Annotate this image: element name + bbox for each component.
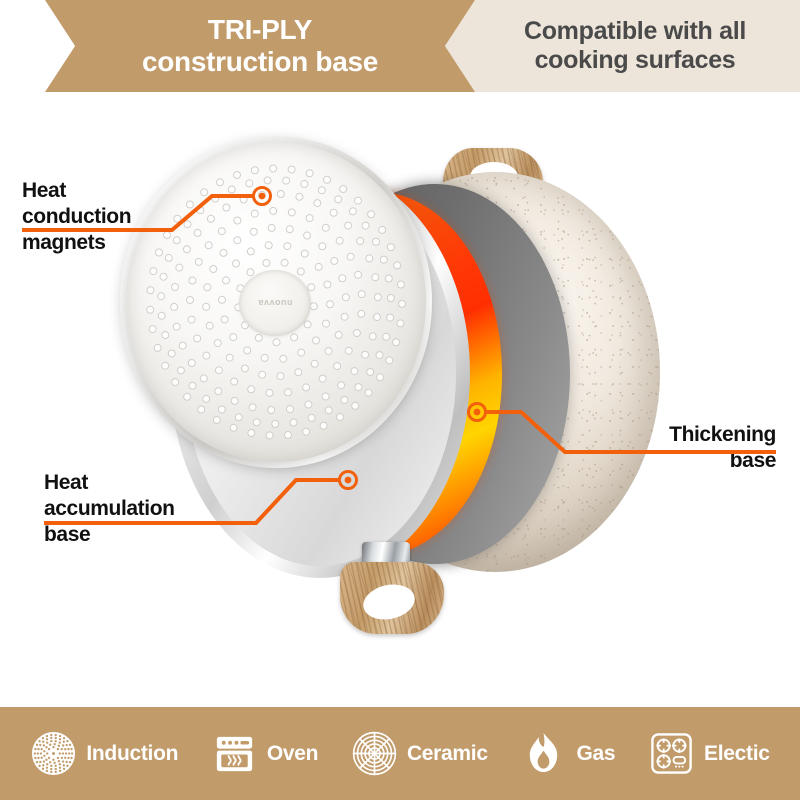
oven-icon <box>211 730 258 777</box>
ceramic-icon <box>351 730 398 777</box>
compatibility-bar: Induction Oven <box>0 707 800 800</box>
brand-mark: nuovva <box>258 298 293 308</box>
induction-icon <box>30 730 77 777</box>
compat-item-oven[interactable]: Oven <box>211 730 318 777</box>
gas-flame-icon <box>520 730 567 777</box>
primary-banner-text: TRI-PLY construction base <box>45 0 475 92</box>
primary-banner-line2: construction base <box>142 46 378 77</box>
compat-item-electric[interactable]: Electic <box>648 730 770 777</box>
callout-thickening-base-text: Thickening base <box>560 422 776 474</box>
callout-1-line1: Heat <box>22 179 66 202</box>
electric-cooktop-icon <box>648 730 695 777</box>
callout-2-line3: base <box>44 523 90 546</box>
compat-item-ceramic[interactable]: Ceramic <box>351 730 488 777</box>
infographic-canvas: TRI-PLY construction base Compatible wit… <box>0 0 800 800</box>
compat-item-induction[interactable]: Induction <box>30 730 178 777</box>
callout-1-line2: conduction <box>22 205 131 228</box>
header-banner-group: TRI-PLY construction base Compatible wit… <box>0 0 800 92</box>
callout-1-line3: magnets <box>22 231 106 254</box>
callout-2-line2: accumulation <box>44 497 175 520</box>
callout-2-line1: Heat <box>44 471 88 494</box>
compat-label-ceramic: Ceramic <box>407 742 488 766</box>
base-disc-center-medallion: nuovva <box>239 270 311 336</box>
callout-heat-accumulation-base-text: Heat accumulation base <box>44 470 264 547</box>
secondary-banner-line1: Compatible with all <box>524 17 746 45</box>
secondary-banner-line2: cooking surfaces <box>535 46 736 74</box>
callout-3-line2: base <box>730 449 776 472</box>
compat-item-gas[interactable]: Gas <box>520 730 615 777</box>
compat-label-electric: Electic <box>704 742 770 766</box>
compat-label-gas: Gas <box>576 742 615 766</box>
compat-label-oven: Oven <box>267 742 318 766</box>
callout-heat-conduction-magnets-text: Heat conduction magnets <box>22 178 222 255</box>
secondary-banner-text: Compatible with all cooking surfaces <box>470 0 800 92</box>
callout-3-line1: Thickening <box>669 423 776 446</box>
compat-label-induction: Induction <box>86 742 178 766</box>
primary-banner-line1: TRI-PLY <box>208 14 312 45</box>
